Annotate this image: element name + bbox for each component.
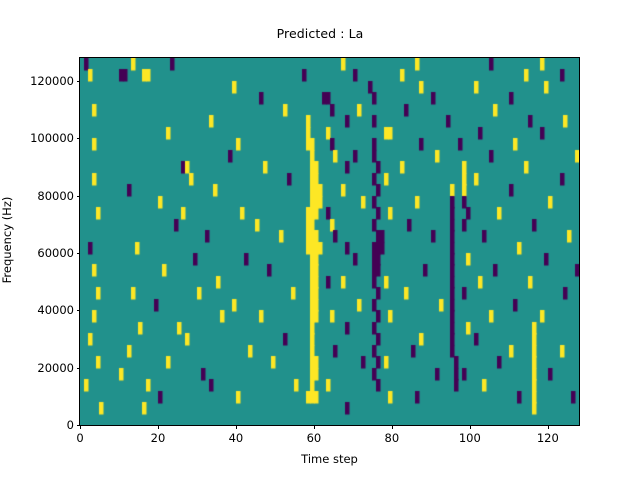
chart-title: Predicted : La — [0, 26, 640, 41]
x-tick-label: 20 — [151, 431, 166, 445]
x-tick-label: 60 — [307, 431, 322, 445]
y-tick-label: 100000 — [30, 131, 74, 145]
x-tick-label: 40 — [229, 431, 244, 445]
y-tick-mark — [77, 368, 81, 369]
x-tick-mark — [314, 425, 315, 429]
x-tick-mark — [470, 425, 471, 429]
y-axis-label: Frequency (Hz) — [0, 197, 14, 284]
x-tick-mark — [392, 425, 393, 429]
y-tick-label: 80000 — [37, 189, 74, 203]
x-tick-mark — [158, 425, 159, 429]
y-tick-label: 60000 — [37, 246, 74, 260]
x-tick-label: 100 — [459, 431, 481, 445]
y-tick-label: 0 — [67, 418, 74, 432]
x-tick-mark — [548, 425, 549, 429]
y-tick-mark — [77, 196, 81, 197]
plot-axes: 020000400006000080000100000120000 020406… — [79, 57, 580, 426]
y-tick-label: 20000 — [37, 361, 74, 375]
y-tick-label: 40000 — [37, 303, 74, 317]
x-axis-label: Time step — [79, 452, 580, 466]
y-tick-mark — [77, 81, 81, 82]
y-tick-mark — [77, 310, 81, 311]
y-tick-label: 120000 — [30, 74, 74, 88]
x-tick-label: 0 — [76, 431, 83, 445]
matplotlib-figure: Predicted : La 0200004000060000800001000… — [0, 0, 640, 480]
y-tick-mark — [77, 253, 81, 254]
y-tick-mark — [77, 138, 81, 139]
x-tick-mark — [236, 425, 237, 429]
x-tick-mark — [80, 425, 81, 429]
x-tick-label: 80 — [385, 431, 400, 445]
x-tick-label: 120 — [537, 431, 559, 445]
heatmap-canvas — [80, 58, 579, 425]
